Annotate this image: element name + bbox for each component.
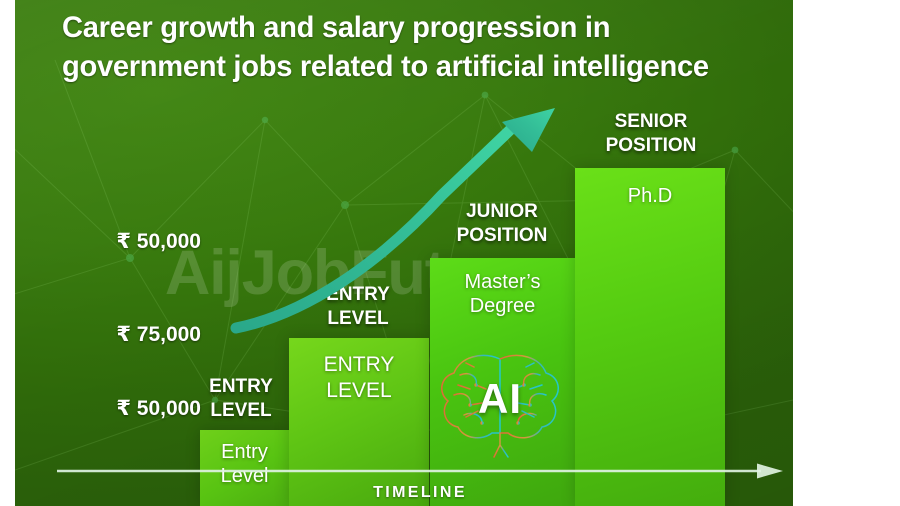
bar-header-entry-level-1: ENTRY LEVEL [185,375,297,422]
y-axis-label-0: ₹ 50,000 [61,229,201,254]
page-title-line-2: government jobs related to artificial in… [62,47,760,86]
bar-header-senior-position: SENIOR POSITION [573,110,729,157]
bar-inner-label: ENTRY LEVEL [289,352,429,403]
timeline-label: TIMELINE [55,484,785,502]
y-axis-label-2: ₹ 50,000 [61,396,201,421]
infographic-canvas: Career growth and salary progression in … [0,0,900,506]
growth-arrow [210,100,590,345]
bar-inner-label: Ph.D [575,184,725,208]
bar-senior-position: Ph.D [575,168,725,506]
page-title-line-1: Career growth and salary progression in [62,8,760,47]
bar-fill [575,168,725,506]
y-axis-label-1: ₹ 75,000 [61,322,201,347]
green-panel: Career growth and salary progression in … [15,0,793,506]
page-title: Career growth and salary progression in … [62,8,760,86]
ai-label: AI [430,375,570,423]
timeline-axis [55,462,785,484]
ai-brain-illustration: AI [430,345,570,460]
